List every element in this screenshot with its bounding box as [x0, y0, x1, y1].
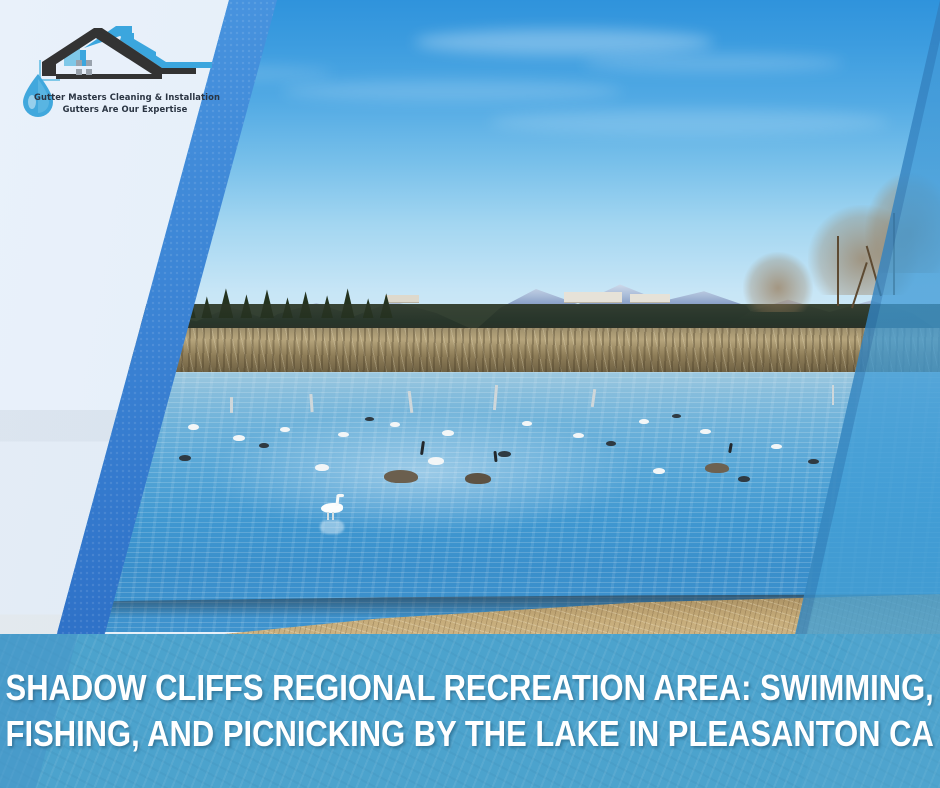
- poster-canvas: Gutter Masters Cleaning & Installation G…: [0, 0, 940, 788]
- gull: [653, 468, 665, 474]
- gull: [280, 427, 290, 432]
- gull: [522, 421, 532, 426]
- gull: [188, 424, 199, 430]
- duck: [259, 443, 269, 448]
- post: [230, 397, 233, 413]
- water-glint: [207, 410, 639, 536]
- logo-company-line1: Gutter Masters Cleaning & Installation: [34, 92, 216, 102]
- branch: [837, 236, 839, 306]
- cloud: [583, 54, 843, 72]
- building: [630, 294, 670, 303]
- gutter-masters-logo[interactable]: Gutter Masters Cleaning & Installation G…: [16, 20, 216, 118]
- egret-reflection: [320, 520, 344, 534]
- title-line-2: FISHING, AND PICNICKING BY THE LAKE IN P…: [6, 712, 934, 756]
- gull: [442, 430, 454, 436]
- duck: [498, 451, 511, 457]
- duck: [808, 459, 819, 464]
- gull: [700, 429, 711, 434]
- building: [564, 292, 622, 303]
- gull: [428, 457, 444, 465]
- cloud: [414, 29, 714, 55]
- title-line-1: SHADOW CLIFFS REGIONAL RECREATION AREA: …: [6, 666, 934, 710]
- banner-title-block: SHADOW CLIFFS REGIONAL RECREATION AREA: …: [0, 634, 940, 788]
- title-banner: SHADOW CLIFFS REGIONAL RECREATION AREA: …: [0, 634, 940, 788]
- duck: [365, 417, 374, 421]
- gull: [233, 435, 245, 441]
- cloud: [282, 80, 622, 102]
- post: [832, 385, 835, 405]
- cloud: [489, 109, 889, 135]
- duck: [738, 476, 750, 482]
- gull: [315, 464, 329, 471]
- bare-tree: [743, 252, 813, 312]
- logo-tagline: Gutters Are Our Expertise: [34, 104, 216, 114]
- gull: [338, 432, 349, 437]
